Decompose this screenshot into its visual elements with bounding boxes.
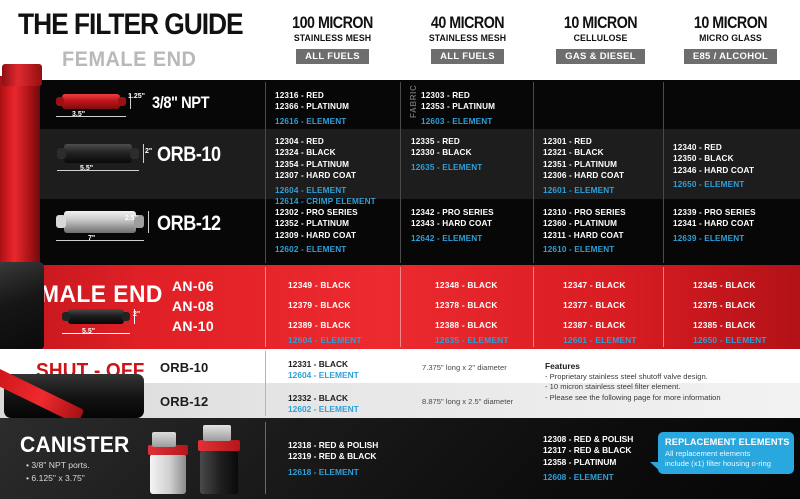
part-number: 12341 - HARD COAT xyxy=(673,218,756,229)
part-number: 12307 - HARD COAT xyxy=(275,170,376,181)
part-number: 12335 - RED xyxy=(411,136,482,147)
column-micron-label: 10 MICRON xyxy=(544,14,657,31)
column-divider-3 xyxy=(533,82,534,263)
part-number: 12360 - PLATINUM xyxy=(543,218,626,229)
cell-shutoff-orb10: 12331 - BLACK 12604 - ELEMENT xyxy=(288,359,359,381)
column-fuel-chip: GAS & DIESEL xyxy=(556,49,645,64)
cell-an10-10micron-cellulose: 12387 - BLACK xyxy=(563,320,626,330)
product-image-canister-black-cap xyxy=(198,440,240,451)
product-image-canister-black-bracket xyxy=(203,425,231,441)
part-number: 12331 - BLACK xyxy=(288,359,359,370)
replacement-elements-callout: REPLACEMENT ELEMENTS All replacement ele… xyxy=(658,432,794,474)
column-divider-2 xyxy=(400,82,401,263)
element-number: 12618 - ELEMENT xyxy=(288,467,378,478)
cell-an08-10micron-microglass: 12375 - BLACK xyxy=(693,300,756,310)
column-divider-1 xyxy=(265,267,266,347)
column-media-label: CELLULOSE xyxy=(538,33,662,44)
size-label-an08: AN-08 xyxy=(172,298,214,314)
part-number: 12330 - BLACK xyxy=(411,147,482,158)
part-number: 12302 - PRO SERIES xyxy=(275,207,358,218)
cell-an10-100micron: 12389 - BLACK xyxy=(288,320,351,330)
dim-label-male-diameter: 2" xyxy=(133,311,140,318)
dim-label-orb12-diameter: 2.5" xyxy=(125,215,138,222)
part-number: 12350 - BLACK xyxy=(673,153,754,164)
part-number: 12318 - RED & POLISH xyxy=(288,440,378,451)
cell-shutoff-orb12: 12332 - BLACK 12602 - ELEMENT xyxy=(288,393,359,415)
element-number: 12608 - ELEMENT xyxy=(543,472,633,483)
dim-line-orb10-length xyxy=(57,170,139,171)
column-divider-1 xyxy=(265,422,266,494)
cell-an08-10micron-cellulose: 12377 - BLACK xyxy=(563,300,626,310)
product-image-red-tank xyxy=(0,76,40,266)
column-header-10-micron-cellulose: 10 MICRON CELLULOSE GAS & DIESEL xyxy=(533,14,668,64)
element-an-40micron: 12635 - ELEMENT xyxy=(435,335,509,345)
column-header-40-micron: 40 MICRON STAINLESS MESH ALL FUELS xyxy=(400,14,535,64)
part-number: 12317 - RED & BLACK xyxy=(543,445,633,456)
cell-canister-10micron-cellulose: 12308 - RED & POLISH 12317 - RED & BLACK… xyxy=(543,434,633,484)
dim-label-orb10-diameter: 2" xyxy=(145,148,152,155)
product-image-male-end-right xyxy=(122,312,130,321)
part-number: 12346 - HARD COAT xyxy=(673,165,754,176)
column-micron-label: 40 MICRON xyxy=(411,14,524,31)
column-fuel-chip: E85 / ALCOHOL xyxy=(684,49,777,64)
part-number: 12366 - PLATINUM xyxy=(275,101,349,112)
part-number: 12354 - PLATINUM xyxy=(275,159,376,170)
product-image-orb10-filter xyxy=(64,144,132,163)
part-number: 12352 - PLATINUM xyxy=(275,218,358,229)
dimension-shutoff-orb10: 7.375" long x 2" diameter xyxy=(422,363,507,372)
column-divider-3 xyxy=(533,267,534,347)
dim-label-npt-diameter: 1.25" xyxy=(128,93,145,100)
port-label-orb10: ORB-10 xyxy=(157,143,221,167)
element-number: 12601 - ELEMENT xyxy=(543,185,624,196)
product-image-orb12-end-left xyxy=(56,215,66,228)
callout-line: include (x1) filter housing o-ring xyxy=(665,459,771,469)
canister-bullet: • 6.125" x 3.75" xyxy=(26,473,85,483)
cell-orb12-100micron: 12302 - PRO SERIES 12352 - PLATINUM 1230… xyxy=(275,207,358,256)
cell-orb12-10micron-microglass: 12339 - PRO SERIES 12341 - HARD COAT 126… xyxy=(673,207,756,244)
part-number: 12304 - RED xyxy=(275,136,376,147)
dim-label-npt-length: 3.5" xyxy=(72,111,85,118)
port-label-shutoff-orb12: ORB-12 xyxy=(160,394,208,409)
element-number: 12635 - ELEMENT xyxy=(411,162,482,173)
product-image-male-fitting xyxy=(0,262,44,350)
product-image-male-end-left xyxy=(62,312,70,321)
feature-item: - Proprietary stainless steel shutoff va… xyxy=(545,372,721,383)
port-label-shutoff-orb10: ORB-10 xyxy=(160,360,208,375)
product-image-canister-white-body xyxy=(150,454,186,494)
dim-line-orb12-diameter xyxy=(148,211,149,233)
element-number: 12616 - ELEMENT xyxy=(275,116,349,127)
element-number: 12604 - ELEMENT xyxy=(275,185,376,196)
dim-label-orb12-length: 7" xyxy=(88,235,95,242)
element-number: 12642 - ELEMENT xyxy=(411,233,494,244)
part-number: 12321 - BLACK xyxy=(543,147,624,158)
element-number: 12639 - ELEMENT xyxy=(673,233,756,244)
part-number: 12351 - PLATINUM xyxy=(543,159,624,170)
section-title-female-end: FEMALE END xyxy=(62,48,196,72)
page-title: THE FILTER GUIDE xyxy=(18,8,243,42)
column-divider-4 xyxy=(663,82,664,263)
column-fuel-chip: ALL FUELS xyxy=(296,49,369,64)
cell-npt-100micron: 12316 - RED 12366 - PLATINUM 12616 - ELE… xyxy=(275,90,349,127)
features-title: Features xyxy=(545,361,721,372)
part-number: 12309 - HARD COAT xyxy=(275,230,358,241)
dim-line-orb12-length xyxy=(56,240,144,241)
cell-orb10-100micron: 12304 - RED 12324 - BLACK 12354 - PLATIN… xyxy=(275,136,376,207)
element-an-10micron-microglass: 12650 - ELEMENT xyxy=(693,335,767,345)
product-image-red-tank-cap xyxy=(2,64,42,86)
part-number: 12301 - RED xyxy=(543,136,624,147)
column-fuel-chip: ALL FUELS xyxy=(431,49,504,64)
port-label-orb12: ORB-12 xyxy=(157,212,221,236)
dim-label-orb10-length: 5.5" xyxy=(80,165,93,172)
cell-an06-100micron: 12349 - BLACK xyxy=(288,280,351,290)
product-image-canister-white-bracket xyxy=(152,432,176,447)
cell-orb12-10micron-cellulose: 12310 - PRO SERIES 12360 - PLATINUM 1231… xyxy=(543,207,626,256)
part-number: 12358 - PLATINUM xyxy=(543,457,633,468)
part-number: 12340 - RED xyxy=(673,142,754,153)
column-divider-1 xyxy=(265,351,266,416)
cell-orb10-10micron-microglass: 12340 - RED 12350 - BLACK 12346 - HARD C… xyxy=(673,142,754,191)
part-number: 12308 - RED & POLISH xyxy=(543,434,633,445)
column-media-label: STAINLESS MESH xyxy=(270,33,394,44)
callout-body: All replacement elements include (x1) fi… xyxy=(665,449,771,469)
cell-an08-100micron: 12379 - BLACK xyxy=(288,300,351,310)
callout-line: All replacement elements xyxy=(665,449,771,459)
product-image-male-filter xyxy=(68,309,124,324)
dim-label-male-length: 5.5" xyxy=(82,328,95,335)
column-divider-4 xyxy=(663,267,664,347)
part-number: 12316 - RED xyxy=(275,90,349,101)
column-micron-label: 100 MICRON xyxy=(276,14,389,31)
part-number: 12339 - PRO SERIES xyxy=(673,207,756,218)
element-number: 12604 - ELEMENT xyxy=(288,370,359,381)
part-number: 12353 - PLATINUM xyxy=(421,101,495,112)
element-number: 12602 - ELEMENT xyxy=(275,244,358,255)
column-divider-1 xyxy=(265,82,266,263)
column-media-label: STAINLESS MESH xyxy=(405,33,529,44)
product-image-orb10-end-left xyxy=(57,148,66,159)
cell-orb10-10micron-cellulose: 12301 - RED 12321 - BLACK 12351 - PLATIN… xyxy=(543,136,624,196)
port-label-npt: 3/8" NPT xyxy=(152,93,209,113)
male-end-table: MALE END 5.5" 2" AN-06 AN-08 AN-10 12349… xyxy=(0,265,800,349)
features-block: Features - Proprietary stainless steel s… xyxy=(545,361,721,403)
column-header-10-micron-micro-glass: 10 MICRON MICRO GLASS E85 / ALCOHOL xyxy=(663,14,798,64)
filter-guide-page: THE FILTER GUIDE FEMALE END 100 MICRON S… xyxy=(0,0,800,499)
element-an-100micron: 12604 - ELEMENT xyxy=(288,335,362,345)
cell-canister-100micron: 12318 - RED & POLISH 12319 - RED & BLACK… xyxy=(288,440,378,478)
element-number: 12602 - ELEMENT xyxy=(288,404,359,415)
product-image-canister-black-body xyxy=(200,450,238,494)
part-number: 12311 - HARD COAT xyxy=(543,230,626,241)
product-image-npt-end-left xyxy=(56,97,64,106)
part-number: 12324 - BLACK xyxy=(275,147,376,158)
part-number: 12306 - HARD COAT xyxy=(543,170,624,181)
cell-an06-10micron-microglass: 12345 - BLACK xyxy=(693,280,756,290)
part-number: 12319 - RED & BLACK xyxy=(288,451,378,462)
dim-line-male-length xyxy=(62,333,130,334)
section-title-male-end: MALE END xyxy=(40,281,163,309)
element-number: 12603 - ELEMENT xyxy=(421,116,495,127)
element-number: 12610 - ELEMENT xyxy=(543,244,626,255)
element-number: 12614 - CRIMP ELEMENT xyxy=(275,196,376,207)
header-band: THE FILTER GUIDE FEMALE END 100 MICRON S… xyxy=(0,0,800,80)
cell-an10-10micron-microglass: 12385 - BLACK xyxy=(693,320,756,330)
column-media-label: MICRO GLASS xyxy=(668,33,792,44)
cell-orb12-40micron: 12342 - PRO SERIES 12343 - HARD COAT 126… xyxy=(411,207,494,244)
cell-npt-40micron: 12303 - RED 12353 - PLATINUM 12603 - ELE… xyxy=(421,90,495,127)
fabric-tag: FABRIC xyxy=(409,85,418,118)
section-title-canister: CANISTER xyxy=(20,432,130,458)
cell-an08-40micron: 12378 - BLACK xyxy=(435,300,498,310)
element-number: 12650 - ELEMENT xyxy=(673,179,754,190)
canister-bullet: • 3/8" NPT ports. xyxy=(26,460,90,470)
cell-an06-10micron-cellulose: 12347 - BLACK xyxy=(563,280,626,290)
part-number: 12342 - PRO SERIES xyxy=(411,207,494,218)
female-end-table: 3.5" 1.25" 3/8" NPT FABRIC 12316 - RED 1… xyxy=(0,80,800,265)
callout-title: REPLACEMENT ELEMENTS xyxy=(665,437,790,447)
dimension-shutoff-orb12: 8.875" long x 2.5" diameter xyxy=(422,397,513,406)
product-image-npt-end-right xyxy=(118,97,126,106)
column-micron-label: 10 MICRON xyxy=(674,14,787,31)
size-label-an10: AN-10 xyxy=(172,318,214,334)
cell-orb10-40micron: 12335 - RED 12330 - BLACK 12635 - ELEMEN… xyxy=(411,136,482,173)
product-image-npt-filter xyxy=(62,94,120,109)
part-number: 12310 - PRO SERIES xyxy=(543,207,626,218)
feature-item: - Please see the following page for more… xyxy=(545,393,721,404)
part-number: 12303 - RED xyxy=(421,90,495,101)
element-an-10micron-cellulose: 12601 - ELEMENT xyxy=(563,335,637,345)
part-number: 12343 - HARD COAT xyxy=(411,218,494,229)
part-number: 12332 - BLACK xyxy=(288,393,359,404)
product-image-orb10-end-right xyxy=(130,148,139,159)
feature-item: - 10 micron stainless steel filter eleme… xyxy=(545,382,721,393)
dim-line-npt-length xyxy=(56,116,126,117)
column-divider-2 xyxy=(400,267,401,347)
column-header-100-micron: 100 MICRON STAINLESS MESH ALL FUELS xyxy=(265,14,400,64)
size-label-an06: AN-06 xyxy=(172,278,214,294)
dim-line-orb10-diameter xyxy=(143,144,144,163)
cell-an06-40micron: 12348 - BLACK xyxy=(435,280,498,290)
cell-an10-40micron: 12388 - BLACK xyxy=(435,320,498,330)
